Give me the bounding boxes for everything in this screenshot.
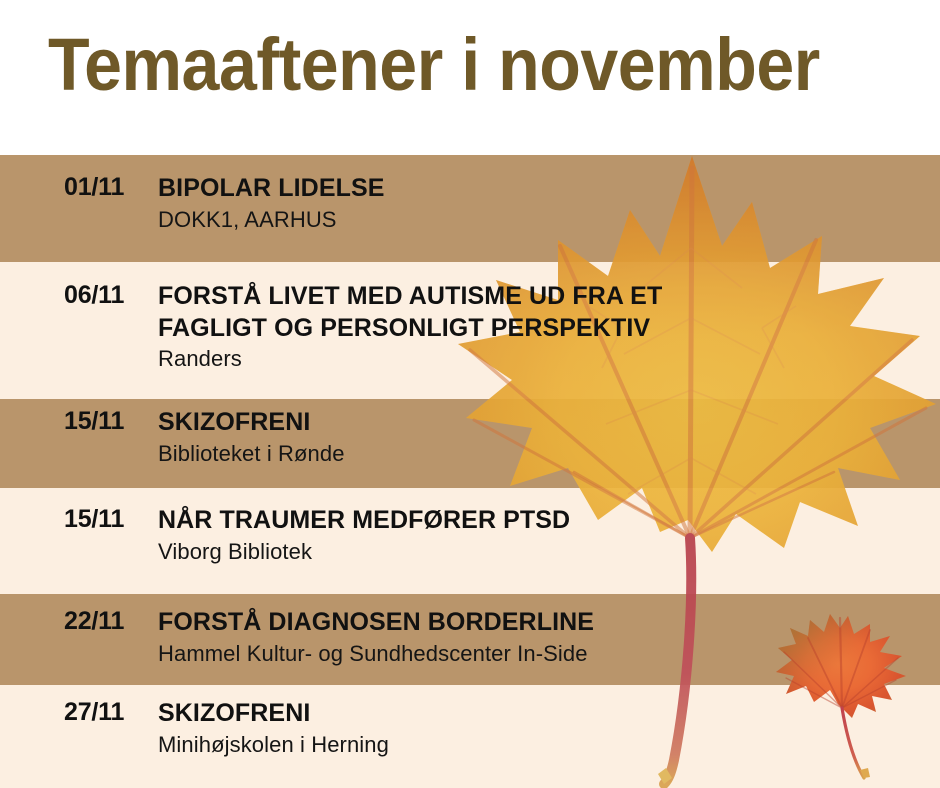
event-title: BIPOLAR LIDELSE <box>158 173 940 205</box>
list-item[interactable]: 22/11 FORSTÅ DIAGNOSEN BORDERLINE Hammel… <box>0 607 940 667</box>
event-date: 06/11 <box>0 281 158 310</box>
event-title: FORSTÅ LIVET MED AUTISME UD FRA ET FAGLI… <box>158 281 940 344</box>
list-item[interactable]: 15/11 NÅR TRAUMER MEDFØRER PTSD Viborg B… <box>0 505 940 565</box>
event-list: 01/11 BIPOLAR LIDELSE DOKK1, AARHUS 06/1… <box>0 155 940 788</box>
event-date: 27/11 <box>0 698 158 727</box>
title-bar: Temaaftener i november <box>0 0 940 155</box>
event-title: FORSTÅ DIAGNOSEN BORDERLINE <box>158 607 940 639</box>
event-venue: Biblioteket i Rønde <box>158 441 940 468</box>
list-item[interactable]: 27/11 SKIZOFRENI Minihøjskolen i Herning <box>0 698 940 758</box>
event-body: NÅR TRAUMER MEDFØRER PTSD Viborg Bibliot… <box>158 505 940 565</box>
event-venue: Minihøjskolen i Herning <box>158 732 940 759</box>
page-title: Temaaftener i november <box>48 28 820 102</box>
event-body: SKIZOFRENI Biblioteket i Rønde <box>158 407 940 467</box>
list-item[interactable]: 06/11 FORSTÅ LIVET MED AUTISME UD FRA ET… <box>0 281 940 373</box>
list-item[interactable]: 01/11 BIPOLAR LIDELSE DOKK1, AARHUS <box>0 173 940 233</box>
event-body: FORSTÅ LIVET MED AUTISME UD FRA ET FAGLI… <box>158 281 940 373</box>
event-venue: Hammel Kultur- og Sundhedscenter In-Side <box>158 641 940 668</box>
event-title: SKIZOFRENI <box>158 698 940 730</box>
event-title: NÅR TRAUMER MEDFØRER PTSD <box>158 505 940 537</box>
event-body: FORSTÅ DIAGNOSEN BORDERLINE Hammel Kultu… <box>158 607 940 667</box>
event-date: 22/11 <box>0 607 158 636</box>
event-body: BIPOLAR LIDELSE DOKK1, AARHUS <box>158 173 940 233</box>
event-venue: Randers <box>158 346 940 373</box>
event-date: 15/11 <box>0 505 158 534</box>
event-date: 01/11 <box>0 173 158 202</box>
list-item[interactable]: 15/11 SKIZOFRENI Biblioteket i Rønde <box>0 407 940 467</box>
event-body: SKIZOFRENI Minihøjskolen i Herning <box>158 698 940 758</box>
event-date: 15/11 <box>0 407 158 436</box>
event-venue: Viborg Bibliotek <box>158 539 940 566</box>
event-poster: Temaaftener i november <box>0 0 940 788</box>
event-title: SKIZOFRENI <box>158 407 940 439</box>
event-venue: DOKK1, AARHUS <box>158 207 940 234</box>
